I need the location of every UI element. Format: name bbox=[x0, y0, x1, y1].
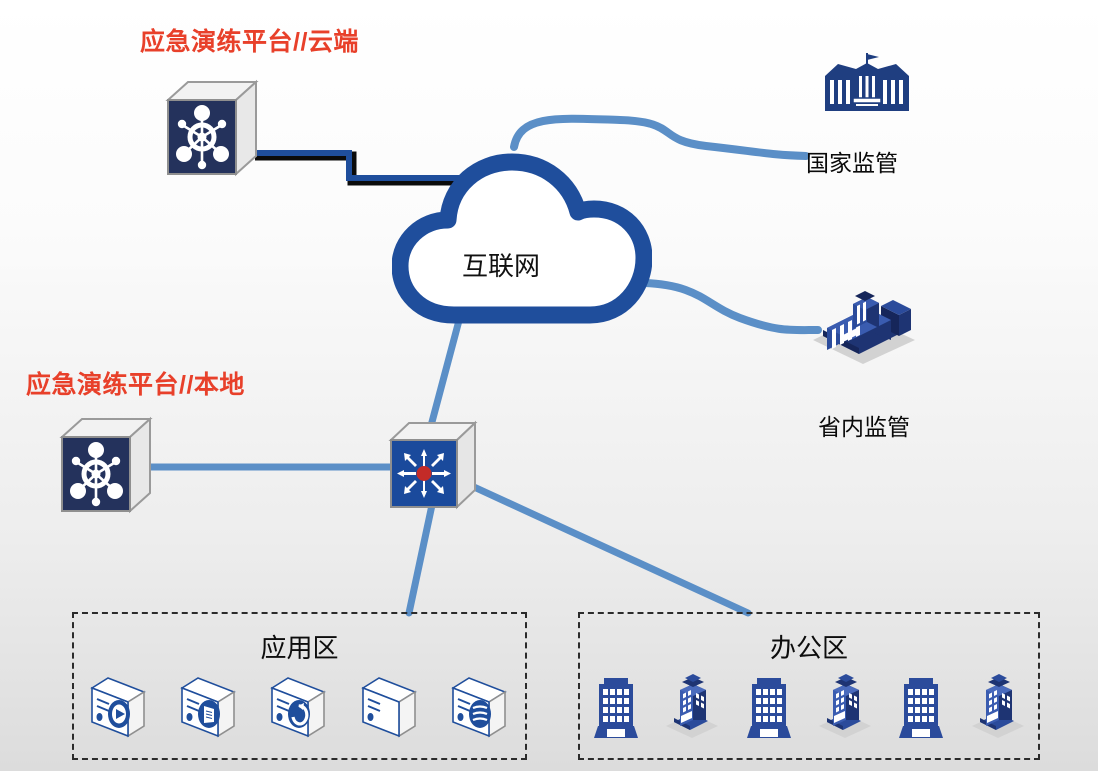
building-isometric-icon bbox=[815, 670, 875, 742]
server-exchange[interactable] bbox=[266, 670, 332, 742]
local-platform-label: 应急演练平台//本地 bbox=[26, 365, 245, 401]
link-core-switch-to-office-zone bbox=[474, 487, 748, 613]
network-topology-diagram: 应急演练平台//云端 bbox=[0, 0, 1098, 771]
government-building-icon bbox=[822, 52, 912, 114]
building-flat-icon bbox=[895, 674, 947, 742]
cloud-platform-node[interactable] bbox=[158, 78, 263, 188]
server-blank[interactable] bbox=[357, 670, 423, 742]
building-isometric-icon bbox=[968, 670, 1028, 742]
building-isometric-icon bbox=[662, 670, 722, 742]
server-sync-icon bbox=[266, 670, 332, 742]
building-flat-icon bbox=[590, 674, 642, 742]
server-play-icon bbox=[86, 670, 152, 742]
local-platform-node[interactable] bbox=[52, 415, 157, 525]
internet-label: 互联网 bbox=[462, 246, 540, 283]
office-building-iso-1[interactable] bbox=[662, 670, 722, 742]
server-database-icon bbox=[447, 670, 513, 742]
provincial-regulator-node[interactable] bbox=[805, 278, 923, 375]
building-flat-icon bbox=[743, 674, 795, 742]
provincial-regulator-label: 省内监管 bbox=[818, 408, 910, 442]
cloud-icon bbox=[392, 140, 652, 325]
office-building-iso-3[interactable] bbox=[968, 670, 1028, 742]
network-switch-cube-icon bbox=[383, 418, 483, 518]
office-zone-devices bbox=[580, 670, 1038, 742]
office-zone: 办公区 bbox=[578, 612, 1040, 760]
office-zone-title: 办公区 bbox=[580, 628, 1038, 665]
network-hub-cube-icon bbox=[158, 78, 263, 183]
server-media[interactable] bbox=[86, 670, 152, 742]
national-regulator-label: 国家监管 bbox=[806, 144, 898, 178]
application-zone-devices bbox=[74, 670, 525, 742]
application-zone-title: 应用区 bbox=[74, 628, 525, 665]
link-internet-to-provincial-regulator bbox=[644, 283, 818, 330]
government-building-isometric-icon bbox=[805, 278, 923, 370]
office-building-flat-2[interactable] bbox=[743, 674, 795, 742]
office-building-flat-3[interactable] bbox=[895, 674, 947, 742]
server-database[interactable] bbox=[447, 670, 513, 742]
national-regulator-node[interactable] bbox=[822, 52, 912, 119]
internet-node[interactable] bbox=[392, 140, 652, 330]
application-zone: 应用区 bbox=[72, 612, 527, 760]
cloud-platform-label: 应急演练平台//云端 bbox=[140, 22, 359, 58]
server-plain-icon bbox=[357, 670, 423, 742]
network-hub-cube-icon bbox=[52, 415, 157, 520]
office-building-iso-2[interactable] bbox=[815, 670, 875, 742]
core-switch-node[interactable] bbox=[383, 418, 483, 523]
server-document-icon bbox=[176, 670, 242, 742]
server-document[interactable] bbox=[176, 670, 242, 742]
office-building-flat-1[interactable] bbox=[590, 674, 642, 742]
